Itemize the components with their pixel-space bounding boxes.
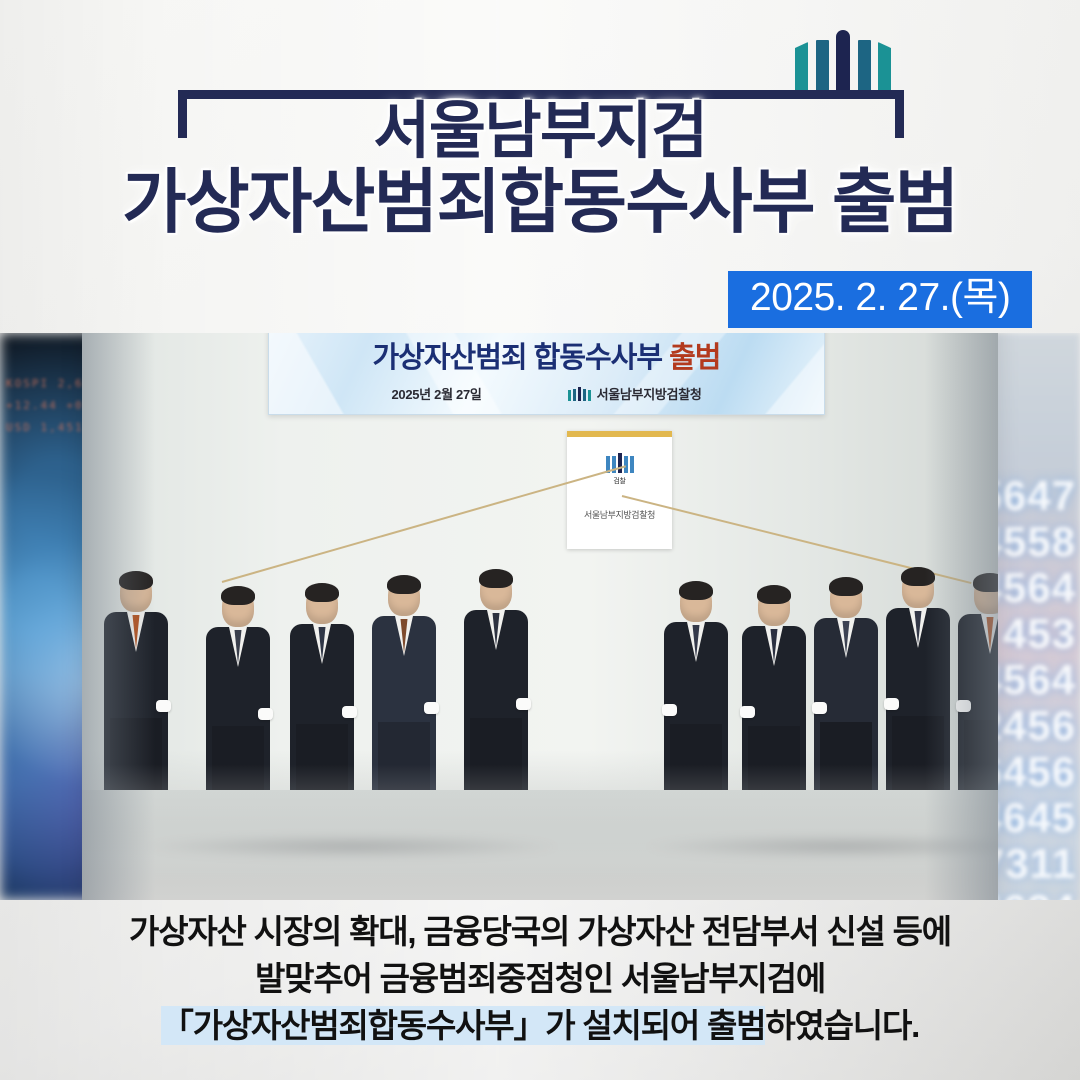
emblem-bar-3	[836, 30, 850, 92]
caption-line-1: 가상자산 시장의 확대, 금융당국의 가상자산 전담부서 신설 등에	[0, 908, 1080, 955]
banner-title-main: 가상자산범죄 합동수사부	[373, 342, 670, 374]
floor-shadow	[142, 834, 562, 860]
banner-title: 가상자산범죄 합동수사부 출범	[269, 334, 824, 376]
caption-line-3: 「가상자산범죄합동수사부」가 설치되어 출범하였습니다.	[0, 1002, 1080, 1049]
plaque-ribbon	[567, 431, 672, 437]
caption-line-3-tail: 하였습니다.	[765, 1007, 919, 1044]
prosecution-service-emblem-icon	[795, 30, 891, 92]
promo-card: 서울남부지검 가상자산범죄합동수사부 출범 2025. 2. 27.(목) KO…	[0, 0, 1080, 1080]
caption-highlight: 「가상자산범죄합동수사부」가 설치되어 출범	[161, 1006, 765, 1045]
officials-row	[82, 442, 998, 822]
title-line-2: 가상자산범죄합동수사부 출범	[0, 167, 1080, 238]
page-title: 서울남부지검 가상자산범죄합동수사부 출범	[0, 100, 1080, 239]
date-badge: 2025. 2. 27.(목)	[728, 271, 1032, 328]
emblem-bar-2	[816, 40, 829, 92]
caption-block: 가상자산 시장의 확대, 금융당국의 가상자산 전담부서 신설 등에 발맞추어 …	[0, 908, 1080, 1049]
ceremony-photo: 가상자산범죄 합동수사부 출범 2025년 2월 27일 서울남부지방검찰청 검…	[82, 333, 998, 900]
card-header: 서울남부지검 가상자산범죄합동수사부 출범	[0, 0, 1080, 290]
emblem-bar-1	[795, 42, 808, 92]
ceremony-photo-band: KOSPI 2,645.81 +12.44 +0.47% USD 1,451.2…	[0, 333, 1080, 900]
banner-subtitle: 2025년 2월 27일 서울남부지방검찰청	[269, 384, 824, 403]
caption-line-2: 발맞추어 금융범죄중점청인 서울남부지검에	[0, 955, 1080, 1002]
emblem-bar-5	[878, 42, 891, 92]
banner-title-accent: 출범	[669, 342, 720, 374]
emblem-bar-4	[858, 40, 871, 92]
floor-shadow	[642, 834, 998, 860]
ceremony-banner: 가상자산범죄 합동수사부 출범 2025년 2월 27일 서울남부지방검찰청	[268, 333, 825, 415]
banner-org-wrap: 서울남부지방검찰청	[568, 384, 702, 403]
banner-emblem-icon	[568, 387, 591, 401]
banner-date: 2025년 2월 27일	[391, 384, 481, 403]
title-line-1: 서울남부지검	[0, 100, 1080, 163]
banner-org: 서울남부지방검찰청	[597, 387, 702, 402]
